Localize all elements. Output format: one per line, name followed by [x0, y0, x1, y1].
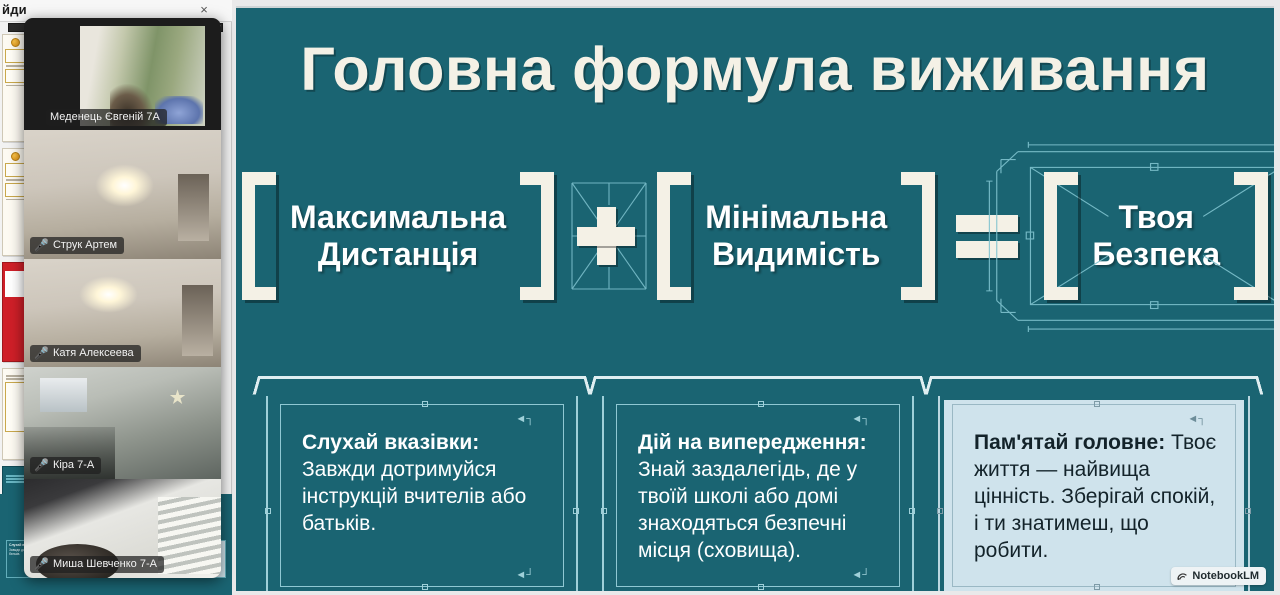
participant-name: Кіра 7-А — [53, 459, 94, 471]
card-body: ◄┐ ◄┘ Дій на випередження: Знай заздалег… — [602, 396, 914, 591]
participant-tile[interactable]: 🎤 Катя Алексеева — [24, 259, 221, 367]
card-body-text: Знай заздалегідь, де у твоїй школі або д… — [638, 458, 857, 562]
bracket-left-icon — [1044, 172, 1078, 300]
card-heading: Слухай вказівки: — [302, 431, 479, 454]
close-icon[interactable]: × — [196, 2, 212, 18]
slide: Головна формула виживання Максимальна Ди… — [236, 6, 1274, 591]
thumbnail-line — [6, 85, 24, 87]
plus-icon — [577, 207, 635, 265]
bracket-left-icon — [657, 172, 691, 300]
thumbnail-line — [6, 475, 24, 477]
card-cornice — [253, 376, 592, 394]
video-detail — [182, 285, 214, 356]
video-detail — [95, 164, 154, 208]
card-dot — [1094, 584, 1100, 590]
card-dot — [422, 584, 428, 590]
card-dot — [937, 508, 943, 514]
video-detail — [170, 389, 186, 405]
participant-name-chip: Меденець Євгеній 7А — [46, 109, 167, 126]
presentation-area[interactable]: Головна формула виживання Максимальна Ди… — [232, 0, 1280, 595]
thumbnail-line — [6, 65, 24, 67]
card-dot — [265, 508, 271, 514]
formula-term-text: Максимальна Дистанція — [276, 199, 520, 273]
video-detail — [178, 174, 210, 241]
card-body: ◄┐ ◄┘ Слухай вказівки: Завжди дотримуйся… — [266, 396, 578, 591]
video-detail — [158, 497, 221, 574]
bracket-right-icon — [520, 172, 554, 300]
card-dot — [909, 508, 915, 514]
card-body-text: Завжди дотримуйся інструкцій вчителів аб… — [302, 458, 526, 535]
card-arrow-icon: ◄┐ — [515, 414, 534, 425]
term-line-1: Твоя — [1092, 199, 1220, 236]
card-dot — [758, 584, 764, 590]
card-arrow-icon: ◄┐ — [1187, 414, 1206, 425]
mic-muted-icon: 🎤 — [34, 347, 49, 359]
thumbnail-badge-icon — [11, 152, 20, 161]
thumbnail-line — [6, 375, 24, 377]
advice-card-listen: ◄┐ ◄┘ Слухай вказівки: Завжди дотримуйся… — [258, 376, 586, 591]
advice-cards: ◄┐ ◄┘ Слухай вказівки: Завжди дотримуйся… — [258, 376, 1258, 591]
formula-term-text: Мінімальна Видимість — [691, 199, 901, 273]
equals-icon — [956, 206, 1018, 267]
window-title: йди — [2, 2, 27, 17]
participant-name-chip: 🎤 Струк Артем — [30, 237, 124, 254]
formula-term-text: Твоя Безпека — [1078, 199, 1234, 273]
thumbnail-box — [5, 271, 25, 297]
participant-name-chip: 🎤 Кіра 7-А — [30, 457, 101, 474]
thumbnail-line — [6, 199, 24, 201]
participant-name: Меденець Євгеній 7А — [50, 111, 160, 123]
thumbnail-box — [5, 163, 25, 177]
term-line-1: Максимальна — [290, 199, 506, 236]
participant-tile[interactable]: Меденець Євгеній 7А — [24, 18, 221, 130]
card-cornice — [925, 376, 1264, 394]
card-dot — [601, 508, 607, 514]
card-arrow-icon: ◄┐ — [851, 414, 870, 425]
term-line-2: Видимість — [705, 236, 887, 273]
thumbnail-badge-icon — [11, 38, 20, 47]
participant-name-chip: 🎤 Катя Алексеева — [30, 345, 141, 362]
screen: йди × — [0, 0, 1280, 595]
participant-tile[interactable]: 🎤 Кіра 7-А — [24, 367, 221, 479]
formula-term-distance: Максимальна Дистанція — [236, 172, 560, 300]
participant-tile[interactable]: 🎤 Струк Артем — [24, 130, 221, 259]
plus-operator — [566, 161, 645, 311]
term-line-1: Мінімальна — [705, 199, 887, 236]
slide-title: Головна формула виживання — [236, 34, 1274, 104]
term-line-2: Безпека — [1092, 236, 1220, 273]
mic-muted-icon: 🎤 — [34, 459, 49, 471]
equals-operator — [947, 161, 1026, 311]
card-cornice — [589, 376, 928, 394]
notebooklm-watermark: NotebookLM — [1171, 567, 1266, 585]
card-dot — [422, 401, 428, 407]
card-dot — [573, 508, 579, 514]
participant-name: Катя Алексеева — [53, 347, 134, 359]
thumbnail-line — [6, 478, 24, 480]
thumbnail-box — [5, 382, 25, 432]
advice-card-anticipate: ◄┐ ◄┘ Дій на випередження: Знай заздалег… — [594, 376, 922, 591]
participant-name-chip: 🎤 Миша Шевченко 7-А — [30, 556, 164, 573]
formula-term-safety: Твоя Безпека — [1038, 172, 1274, 300]
card-heading: Дій на випередження: — [638, 431, 867, 454]
card-arrow-icon: ◄┘ — [515, 570, 534, 581]
bracket-right-icon — [901, 172, 935, 300]
thumbnail-line — [6, 481, 24, 483]
card-heading: Пам'ятай головне: — [974, 431, 1165, 454]
thumbnail-line — [6, 179, 24, 181]
video-detail — [79, 276, 138, 313]
card-text: Дій на випередження: Знай заздалегідь, д… — [638, 430, 884, 564]
card-body: ◄┐ ◄┘ Пам'ятай головне: Твоє життя — най… — [938, 396, 1250, 591]
thumbnail-box — [5, 183, 25, 197]
bracket-right-icon — [1234, 172, 1268, 300]
participant-tile[interactable]: 🎤 Миша Шевченко 7-А — [24, 479, 221, 578]
term-line-2: Дистанція — [290, 236, 506, 273]
thumbnail-box — [5, 49, 25, 63]
card-arrow-icon: ◄┘ — [851, 570, 870, 581]
bracket-left-icon — [242, 172, 276, 300]
notebooklm-icon — [1176, 570, 1188, 582]
participant-name: Струк Артем — [53, 239, 117, 251]
card-dot — [1245, 508, 1251, 514]
card-text: Слухай вказівки: Завжди дотримуйся інстр… — [302, 430, 548, 538]
mic-muted-icon: 🎤 — [34, 558, 49, 570]
advice-card-remember: ◄┐ ◄┘ Пам'ятай головне: Твоє життя — най… — [930, 376, 1258, 591]
thumbnail-box — [5, 69, 25, 83]
video-detail — [40, 378, 87, 412]
participant-name: Миша Шевченко 7-А — [53, 558, 157, 570]
video-participants-panel[interactable]: Меденець Євгеній 7А 🎤 Струк Артем 🎤 Катя… — [24, 18, 221, 578]
thumbnail-line — [6, 378, 24, 380]
watermark-label: NotebookLM — [1192, 570, 1259, 582]
card-text: Пам'ятай головне: Твоє життя — найвища ц… — [974, 430, 1220, 564]
card-dot — [758, 401, 764, 407]
card-dot — [1094, 401, 1100, 407]
formula-term-visibility: Мінімальна Видимість — [651, 172, 941, 300]
survival-formula: Максимальна Дистанція — [236, 146, 1274, 326]
mic-muted-icon: 🎤 — [34, 239, 49, 251]
